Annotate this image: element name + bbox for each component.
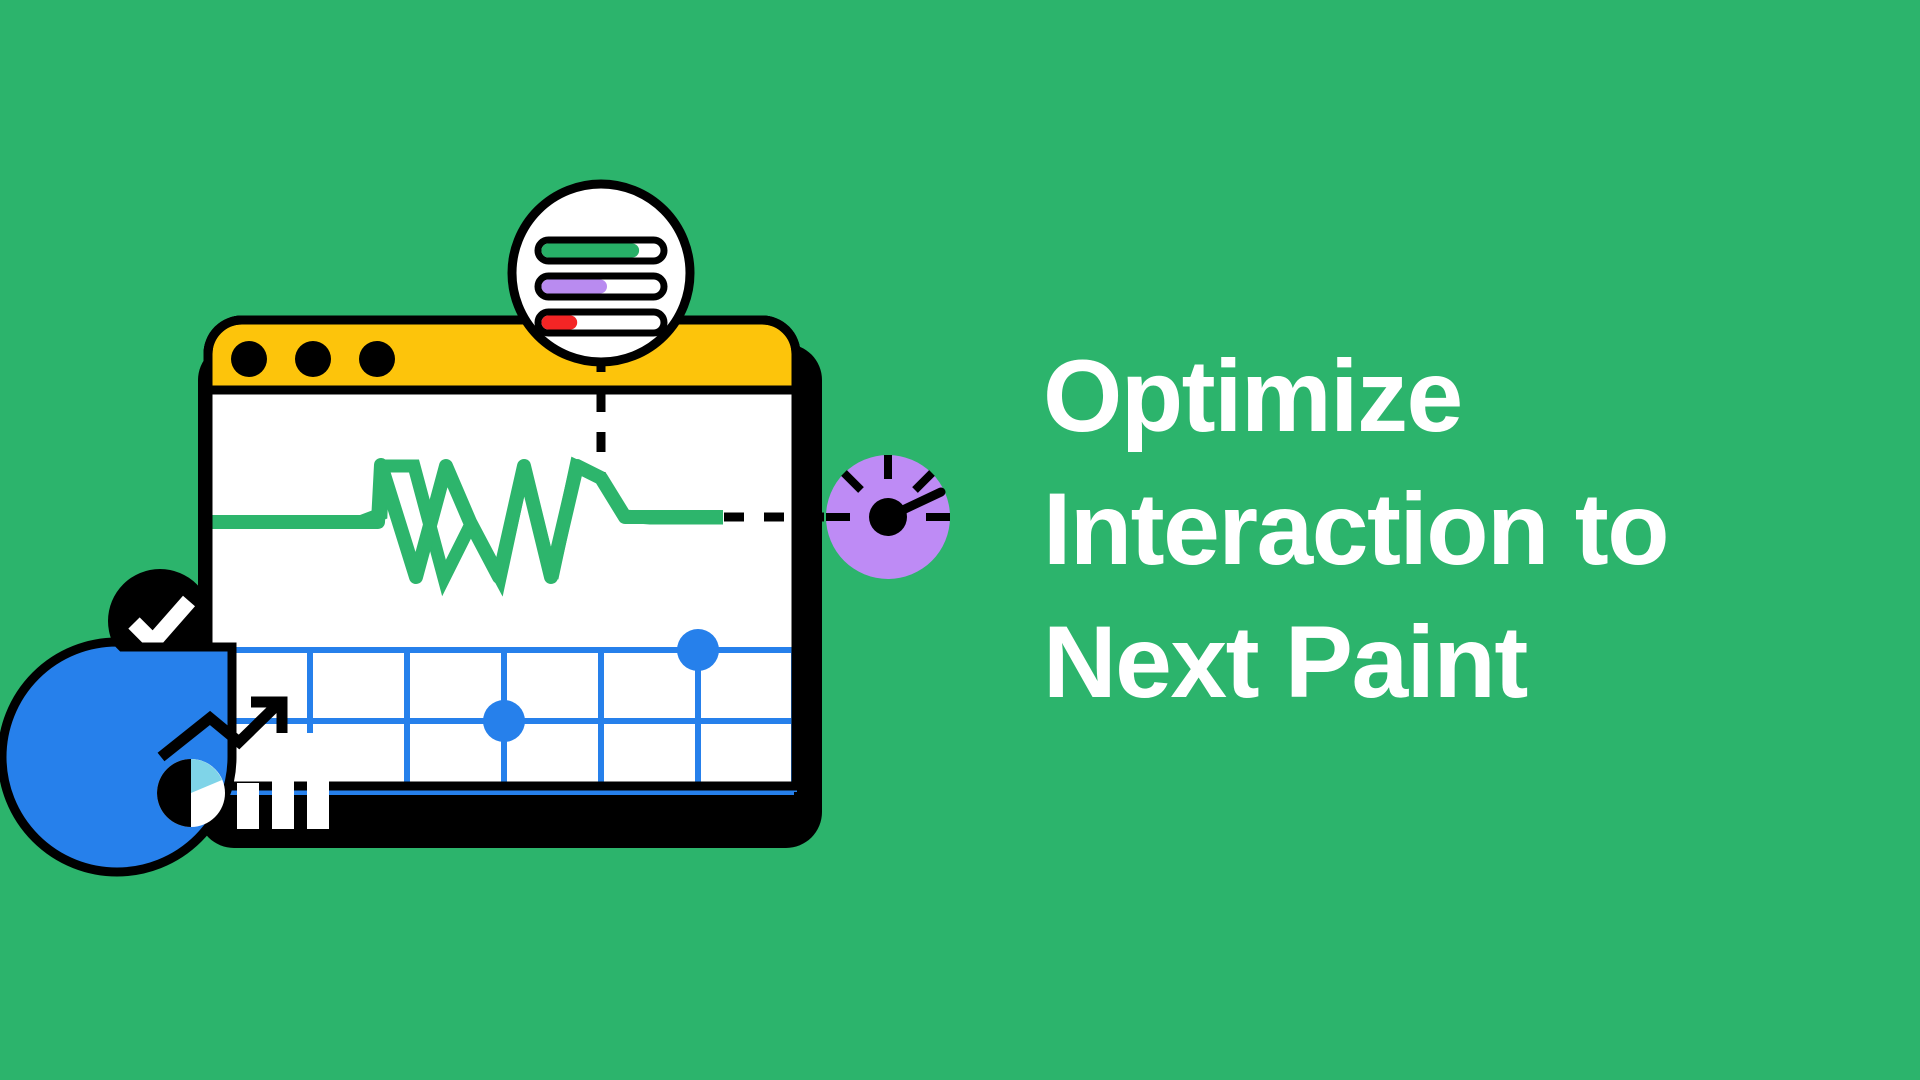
page-root: Optimize Interaction to Next Paint [0, 0, 1920, 1080]
purple-progress-bar[interactable] [538, 276, 664, 297]
headline-line-1: Optimize [1043, 330, 1883, 463]
green-progress-fill [542, 244, 640, 258]
pie-chart-icon [157, 759, 225, 827]
grid-point-2[interactable] [677, 629, 719, 671]
analytics-bar-2 [272, 758, 294, 829]
purple-progress-fill [542, 280, 608, 294]
analytics-bar-3 [307, 733, 329, 829]
grid-point-1[interactable] [483, 700, 525, 742]
speed-gauge[interactable] [826, 455, 950, 579]
red-progress-fill [542, 316, 578, 330]
red-progress-bar[interactable] [538, 312, 664, 333]
analytics-badge-shape [2, 642, 232, 872]
analytics-bar-1 [237, 783, 259, 829]
window-title-bar-fill [212, 390, 796, 391]
green-progress-bar[interactable] [538, 240, 664, 261]
window-dot-1[interactable] [231, 341, 267, 377]
headline-line-2: Interaction to [1043, 463, 1883, 596]
page-title: Optimize Interaction to Next Paint [1043, 330, 1883, 729]
metrics-progress-badge[interactable] [512, 184, 690, 362]
window-dot-3[interactable] [359, 341, 395, 377]
gauge-hub [869, 498, 907, 536]
window-dot-2[interactable] [295, 341, 331, 377]
headline-line-3: Next Paint [1043, 596, 1883, 729]
